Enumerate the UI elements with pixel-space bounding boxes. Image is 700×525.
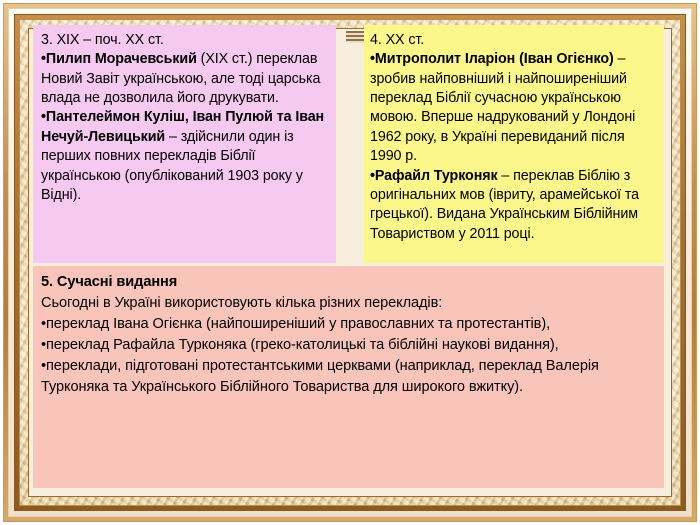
modern-editions-bullet-protestant: •переклади, підготовані протестантськими…	[41, 356, 654, 398]
modern-editions-bullet-turkonyak: •переклад Рафайла Турконяка (греко-катол…	[41, 335, 654, 356]
panel-heading-3: 3. XIX – поч. XX ст.	[41, 31, 330, 50]
panel-heading-4: 4. XX ст.	[370, 31, 656, 50]
bullet-rafayil-turkonyak: •Рафайл Турконяк – переклав Біблію з ори…	[370, 167, 656, 244]
bullet-morachevsky: •Пилип Морачевський (XIX ст.) переклав Н…	[41, 50, 330, 108]
bullet-ilarion-text: – зробив найповніший і найпоширеніший пе…	[370, 51, 635, 164]
bullet-turkonyak-name: Рафайл Турконяк	[375, 168, 498, 184]
panel-19th-early-20th-century: 3. XIX – поч. XX ст. •Пилип Морачевський…	[33, 25, 336, 263]
modern-editions-intro: Сьогодні в Україні використовують кілька…	[41, 293, 654, 314]
modern-editions-bullet-ohienko: •переклад Івана Огієнка (найпоширеніший …	[41, 314, 654, 335]
bullet-ilarion-ohienko: •Митрополит Іларіон (Іван Огієнко) – зро…	[370, 50, 656, 166]
bullet-morachevsky-name: Пилип Морачевський	[46, 51, 197, 67]
panel-heading-5: 5. Сучасні видання	[41, 272, 654, 293]
bullet-kulish-pulyuy-nechuy: •Пантелеймон Куліш, Іван Пулюй та Іван Н…	[41, 108, 330, 205]
stripe-marker-decoration	[346, 31, 364, 43]
slide-canvas: 3. XIX – поч. XX ст. •Пилип Морачевський…	[0, 0, 700, 525]
panel-20th-century: 4. XX ст. •Митрополит Іларіон (Іван Огіє…	[364, 25, 664, 263]
panel-heading-5-text: 5. Сучасні видання	[41, 274, 177, 290]
panel-modern-editions: 5. Сучасні видання Сьогодні в Україні ви…	[33, 266, 664, 488]
bullet-ilarion-name: Митрополит Іларіон (Іван Огієнко)	[375, 51, 614, 67]
